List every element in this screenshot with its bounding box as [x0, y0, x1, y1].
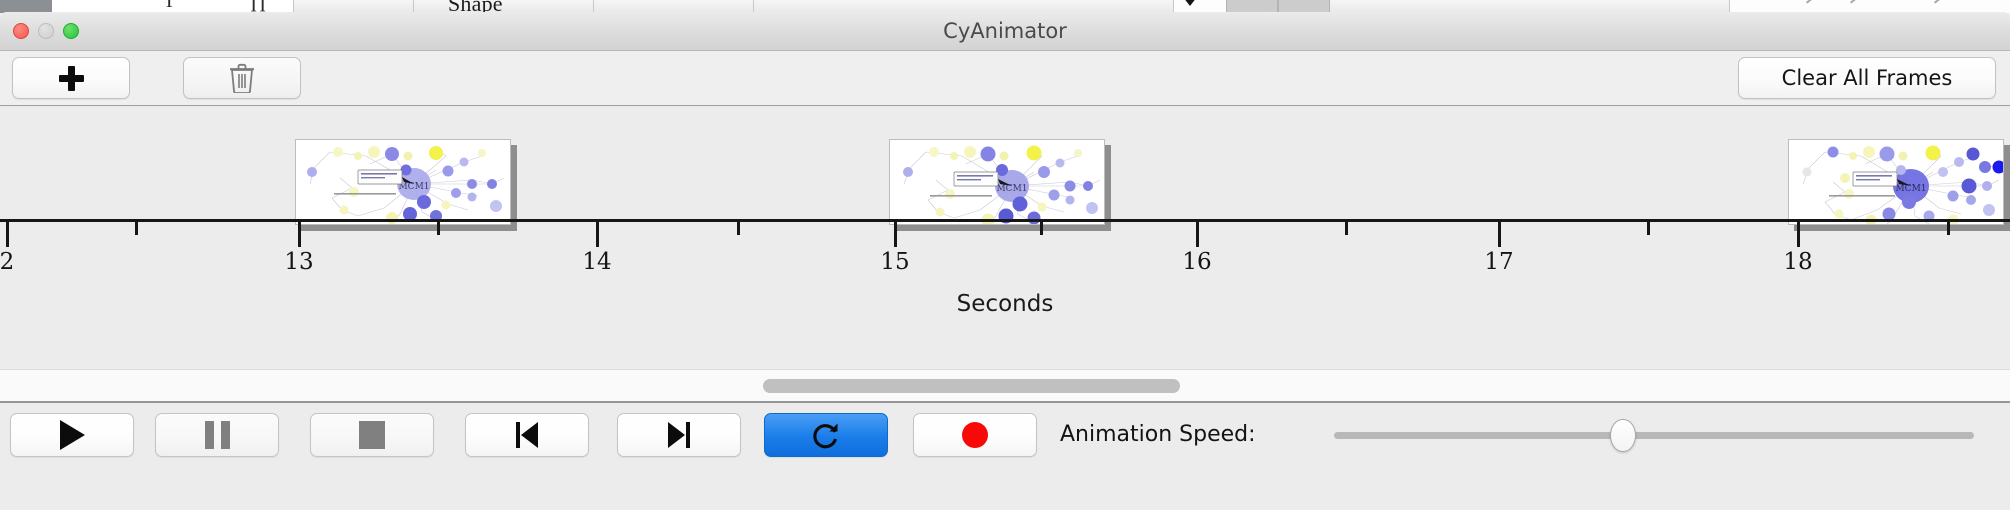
- timeline-panel: MCM1: [0, 106, 2010, 401]
- svg-text:MCM1: MCM1: [398, 182, 429, 192]
- ruler-axis: [0, 219, 2010, 222]
- network-graph-icon: MCM1: [1789, 140, 2004, 225]
- ruler-tick-minor: [1345, 222, 1348, 235]
- transport-bar: Animation Speed:: [0, 401, 2010, 469]
- play-button[interactable]: [10, 413, 134, 457]
- first-frame-button[interactable]: [465, 413, 589, 457]
- slider-track: [1334, 432, 1974, 439]
- ruler-tick-major: [1797, 222, 1800, 247]
- record-button[interactable]: [913, 413, 1037, 457]
- stop-button[interactable]: [310, 413, 434, 457]
- ruler-tick-major: [298, 222, 301, 247]
- frame-canvas: MCM1: [1788, 139, 2004, 225]
- ruler-tick-label: 18: [1783, 249, 1812, 275]
- window-title: CyAnimator: [0, 12, 2010, 51]
- animation-speed-label: Animation Speed:: [1060, 413, 1256, 457]
- stop-icon: [359, 421, 385, 449]
- add-frame-button[interactable]: [12, 57, 130, 99]
- clear-all-frames-button[interactable]: Clear All Frames: [1738, 57, 1996, 99]
- svg-text:MCM1: MCM1: [1895, 184, 1926, 194]
- loop-icon: [811, 420, 841, 450]
- frame-thumbnail[interactable]: MCM1: [295, 139, 517, 231]
- ruler-tick-label: 17: [1484, 249, 1513, 275]
- record-icon: [962, 422, 988, 448]
- ruler-tick-minor: [1040, 222, 1043, 235]
- ruler-tick-major: [1498, 222, 1501, 247]
- toolbar: Clear All Frames: [0, 51, 2010, 106]
- play-icon: [60, 420, 85, 450]
- frame-canvas: MCM1: [889, 139, 1105, 225]
- ruler-tick-minor: [737, 222, 740, 235]
- ruler-tick-label: 13: [284, 249, 313, 275]
- skip-forward-icon: [666, 421, 692, 449]
- slider-thumb[interactable]: [1610, 419, 1636, 452]
- loop-button[interactable]: [764, 413, 888, 457]
- ruler-tick-major: [894, 222, 897, 247]
- background-arrow-icon: [1183, 0, 1197, 6]
- trash-icon: [229, 63, 255, 93]
- network-graph-icon: MCM1: [296, 140, 511, 225]
- clear-all-frames-label: Clear All Frames: [1782, 66, 1953, 90]
- ruler-tick-minor: [1947, 222, 1950, 235]
- last-frame-button[interactable]: [617, 413, 741, 457]
- pause-button[interactable]: [155, 413, 279, 457]
- ruler-tick-label: 16: [1182, 249, 1211, 275]
- timeline-ruler[interactable]: 2131415161718 Seconds: [0, 219, 2010, 299]
- ruler-tick-minor: [1647, 222, 1650, 235]
- plus-icon: [58, 65, 84, 91]
- scrollbar-thumb[interactable]: [763, 379, 1180, 393]
- ruler-tick-major: [596, 222, 599, 247]
- animation-speed-slider[interactable]: [1334, 413, 1974, 457]
- skip-back-icon: [514, 421, 540, 449]
- ruler-caption: Seconds: [0, 291, 2010, 317]
- ruler-tick-major: [6, 222, 9, 247]
- ruler-tick-major: [1196, 222, 1199, 247]
- pause-icon: [205, 421, 230, 449]
- delete-frame-button[interactable]: [183, 57, 301, 99]
- cyanimator-app: Γ ∏ Shape CyAnimator: [0, 0, 2010, 510]
- ruler-tick-label: 2: [0, 249, 14, 275]
- frame-canvas: MCM1: [295, 139, 511, 225]
- svg-text:MCM1: MCM1: [996, 184, 1027, 194]
- titlebar: CyAnimator: [0, 12, 2010, 51]
- ruler-tick-minor: [135, 222, 138, 235]
- ruler-tick-minor: [437, 222, 440, 235]
- cyanimator-window: CyAnimator Clear All Frames: [0, 12, 2010, 510]
- ruler-tick-label: 14: [582, 249, 611, 275]
- timeline-scrollbar[interactable]: [0, 369, 2010, 401]
- frame-thumbnail[interactable]: MCM1: [889, 139, 1111, 231]
- frame-thumbnail[interactable]: MCM1: [1788, 139, 2010, 231]
- network-graph-icon: MCM1: [890, 140, 1105, 225]
- ruler-tick-label: 15: [880, 249, 909, 275]
